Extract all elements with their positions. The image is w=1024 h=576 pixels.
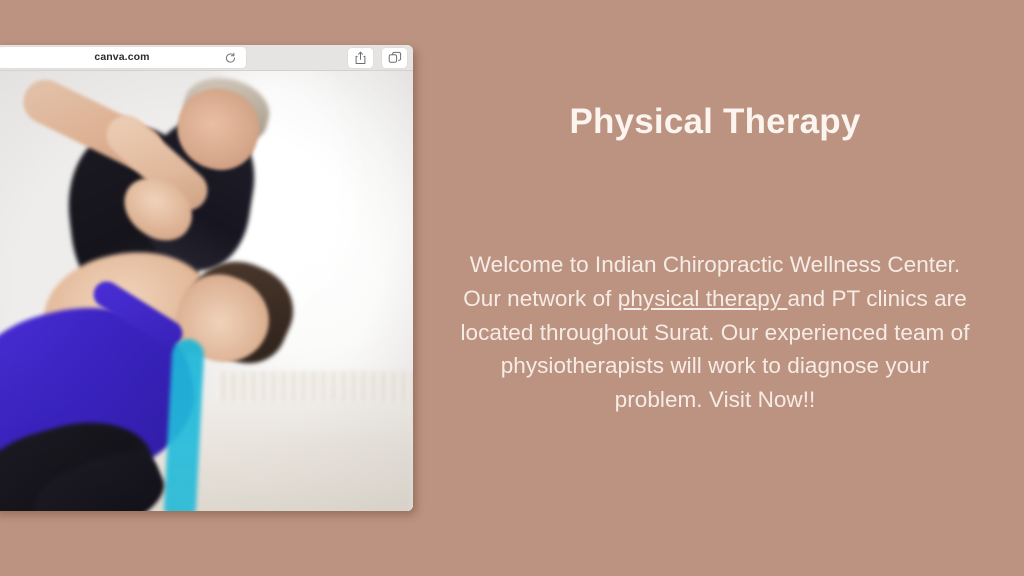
physical-therapy-link[interactable]: physical therapy — [618, 286, 788, 311]
browser-toolbar: canva.com — [0, 45, 413, 71]
browser-window: canva.com — [0, 45, 413, 511]
address-bar[interactable]: canva.com — [0, 47, 246, 68]
body-paragraph: Welcome to Indian Chiropractic Wellness … — [455, 248, 975, 417]
share-button[interactable] — [348, 48, 373, 68]
tabs-icon — [388, 51, 402, 65]
share-icon — [354, 51, 367, 65]
address-bar-url: canva.com — [94, 52, 149, 63]
therapy-photo — [0, 71, 413, 511]
photo-vignette — [0, 71, 413, 511]
page-title: Physical Therapy — [455, 102, 975, 142]
tabs-button[interactable] — [382, 48, 407, 68]
reload-icon[interactable] — [224, 51, 237, 64]
content-column: Physical Therapy Welcome to Indian Chiro… — [455, 0, 975, 576]
